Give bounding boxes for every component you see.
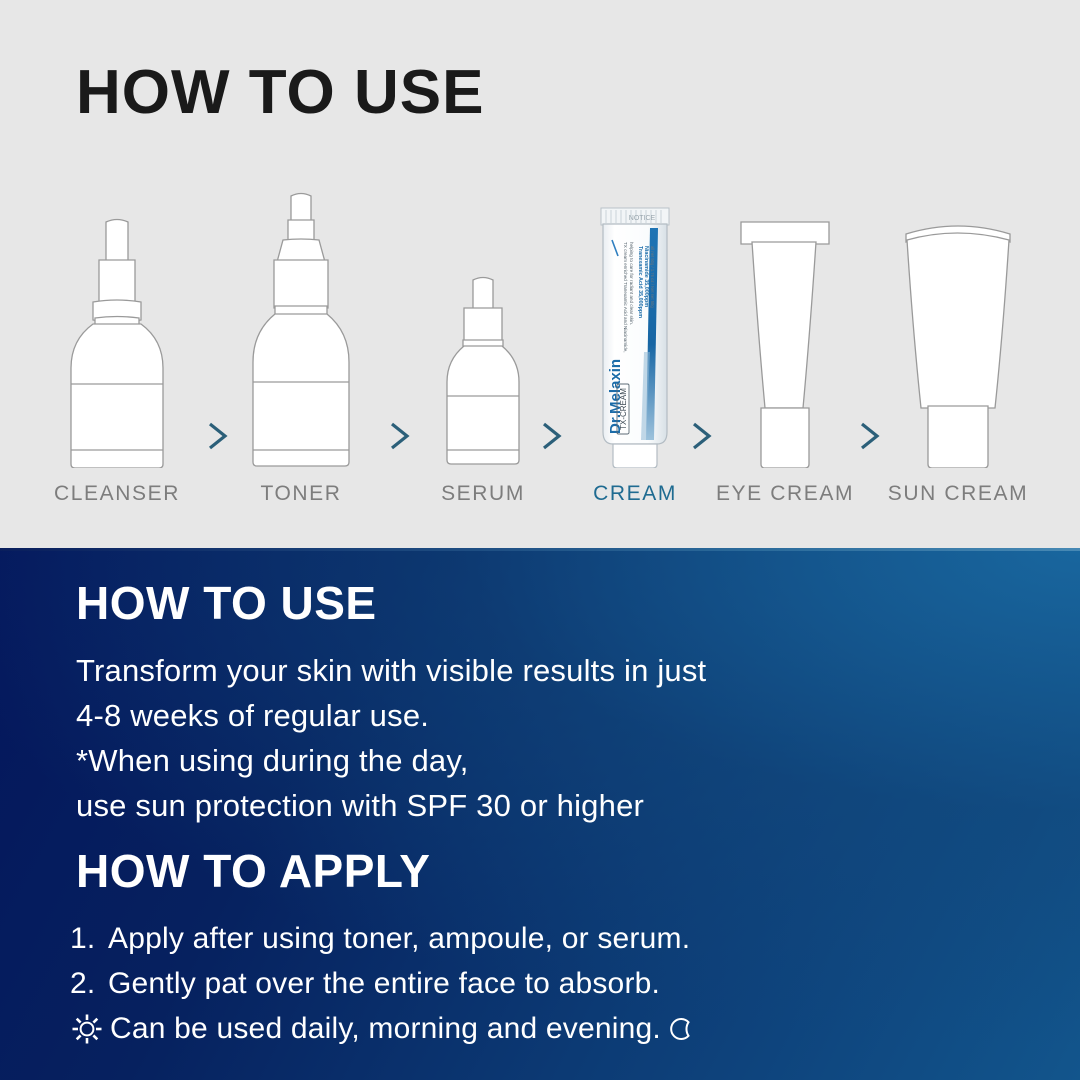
- apply-step-text: Gently pat over the entire face to absor…: [108, 961, 660, 1006]
- apply-steps-list: 1. Apply after using toner, ampoule, or …: [70, 916, 1030, 1051]
- cleanser-bottle-illustration: [34, 192, 200, 468]
- svg-text:all net 50g / 1.76 oz / Net ne: all net 50g / 1.76 oz / Net net 50g: [650, 246, 655, 308]
- apply-step-2: 2. Gently pat over the entire face to ab…: [70, 961, 1030, 1006]
- usage-line: *When using during the day,: [76, 738, 996, 783]
- routine-step-label: SERUM: [400, 482, 566, 506]
- apply-step-number: 2.: [70, 961, 108, 1006]
- apply-title: HOW TO APPLY: [76, 848, 430, 894]
- instructions-title: HOW TO USE: [76, 580, 377, 626]
- eye-cream-tube-illustration: [702, 192, 868, 468]
- svg-text:TX-CREAM: TX-CREAM: [619, 388, 628, 430]
- routine-step-label: CLEANSER: [34, 482, 200, 506]
- routine-step-label: CREAM: [552, 482, 718, 506]
- svg-text:NOTICE: NOTICE: [629, 215, 656, 222]
- apply-step-text: Can be used daily, morning and evening.: [110, 1006, 661, 1051]
- usage-line: use sun protection with SPF 30 or higher: [76, 783, 996, 828]
- toner-bottle-illustration: [218, 192, 384, 468]
- routine-step-label: TONER: [218, 482, 384, 506]
- routine-step-strip: CLEANSER: [0, 170, 1080, 520]
- apply-step-text: Apply after using toner, ampoule, or ser…: [108, 916, 690, 961]
- routine-step-cleanser[interactable]: CLEANSER: [34, 170, 200, 520]
- usage-line: 4-8 weeks of regular use.: [76, 693, 996, 738]
- apply-step-3: Can be used daily, morning and evening.: [70, 1006, 1030, 1051]
- routine-step-eye-cream[interactable]: EYE CREAM: [702, 170, 868, 520]
- routine-step-label: SUN CREAM: [870, 482, 1046, 506]
- svg-text:Niacinamide 35,000ppm: Niacinamide 35,000ppm: [643, 246, 649, 307]
- routine-panel: HOW TO USE CLEANSER: [0, 0, 1080, 548]
- svg-text:helping to care for radiant an: helping to care for radiant and clear sk…: [629, 242, 634, 325]
- usage-copy: Transform your skin with visible results…: [76, 648, 996, 828]
- apply-step-number: 1.: [70, 916, 108, 961]
- svg-text:TX cream enriched Tranexamic A: TX cream enriched Tranexamic Acid and Ni…: [623, 242, 628, 353]
- page-title: HOW TO USE: [76, 62, 484, 124]
- routine-step-label: EYE CREAM: [702, 482, 868, 506]
- apply-step-1: 1. Apply after using toner, ampoule, or …: [70, 916, 1030, 961]
- routine-step-toner[interactable]: TONER: [218, 170, 384, 520]
- sun-cream-tube-illustration: [870, 192, 1046, 468]
- sun-icon: [70, 1012, 104, 1046]
- moon-icon: [667, 1014, 697, 1044]
- routine-step-cream[interactable]: NOTICE TX cream enriched Tranexamic Acid…: [552, 170, 718, 520]
- usage-line: Transform your skin with visible results…: [76, 648, 996, 693]
- instructions-panel: HOW TO USE Transform your skin with visi…: [0, 548, 1080, 1080]
- routine-step-serum[interactable]: SERUM: [400, 170, 566, 520]
- routine-step-sun-cream[interactable]: SUN CREAM: [870, 170, 1046, 520]
- svg-text:Tranexamic Acid 35,000ppm: Tranexamic Acid 35,000ppm: [637, 246, 643, 318]
